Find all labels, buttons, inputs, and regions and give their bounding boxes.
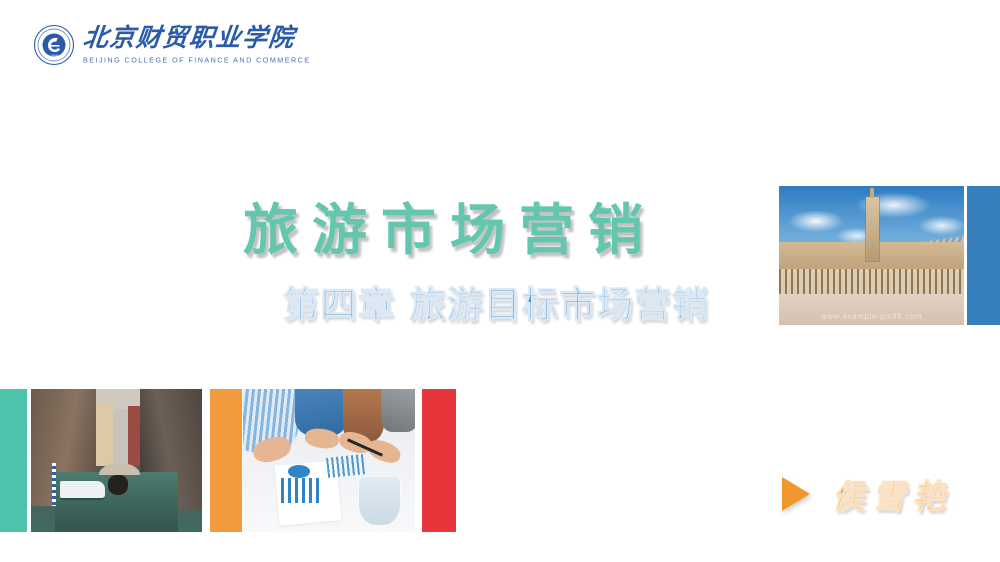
venice-gondola	[108, 475, 129, 495]
venice-building-yellow	[94, 403, 113, 466]
svg-text:1958: 1958	[50, 54, 58, 58]
presenter-signature: 侯雪艳	[782, 470, 952, 518]
meeting-bar-chart	[281, 478, 322, 504]
photo-tower	[866, 197, 879, 261]
venice-mooring-pole	[52, 463, 56, 506]
presenter-name: 侯雪艳	[832, 470, 952, 518]
venice-canal-photo	[31, 389, 202, 532]
play-triangle-icon	[782, 477, 810, 511]
venice-building-white	[113, 409, 128, 466]
meeting-bar-chart-secondary	[326, 454, 366, 478]
institution-logo: 1958 北京财贸职业学院 BEIJING COLLEGE OF FINANCE…	[33, 24, 310, 66]
accent-bar-teal	[0, 389, 27, 532]
accent-bar-orange	[210, 389, 242, 532]
meeting-water-glass	[358, 476, 401, 527]
photo-watermark: www.example-pic99.com	[794, 312, 949, 321]
page-title: 旅游市场营销	[243, 185, 657, 265]
college-seal-icon: 1958	[33, 24, 75, 66]
meeting-pie-chart	[288, 465, 310, 478]
slide-root: 1958 北京财贸职业学院 BEIJING COLLEGE OF FINANCE…	[0, 0, 1000, 562]
meeting-person-grey	[381, 389, 415, 432]
accent-bar-blue	[967, 186, 1000, 325]
plaza-de-espana-photo: www.example-pic99.com	[779, 186, 964, 325]
logo-chinese-name: 北京财贸职业学院	[82, 26, 312, 52]
venice-motorboat	[60, 481, 104, 498]
page-subtitle: 第四章 旅游目标市场营销	[283, 276, 710, 328]
logo-english-name: BEIJING COLLEGE OF FINANCE AND COMMERCE	[83, 55, 310, 64]
accent-bar-red	[422, 389, 456, 532]
logo-wordmark: 北京财贸职业学院 BEIJING COLLEGE OF FINANCE AND …	[83, 26, 310, 64]
business-meeting-photo	[243, 389, 415, 532]
